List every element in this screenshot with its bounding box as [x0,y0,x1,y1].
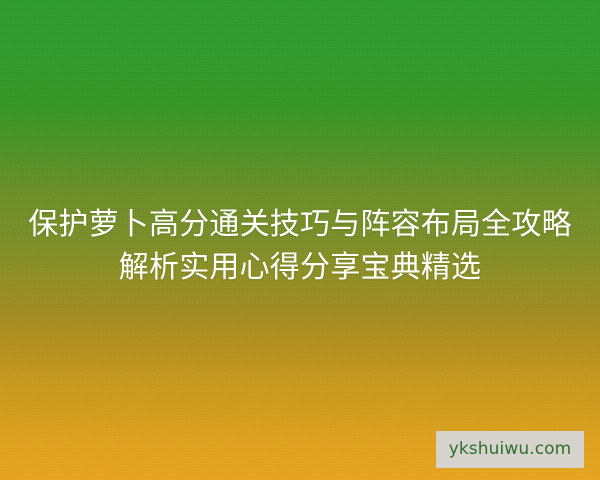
watermark-badge: ykshuiwu.com [436,431,584,468]
background-gradient [0,0,600,480]
watermark-text: ykshuiwu.com [449,441,572,458]
cover-image-canvas: 保护萝卜高分通关技巧与阵容布局全攻略 解析实用心得分享宝典精选 ykshuiwu… [0,0,600,480]
